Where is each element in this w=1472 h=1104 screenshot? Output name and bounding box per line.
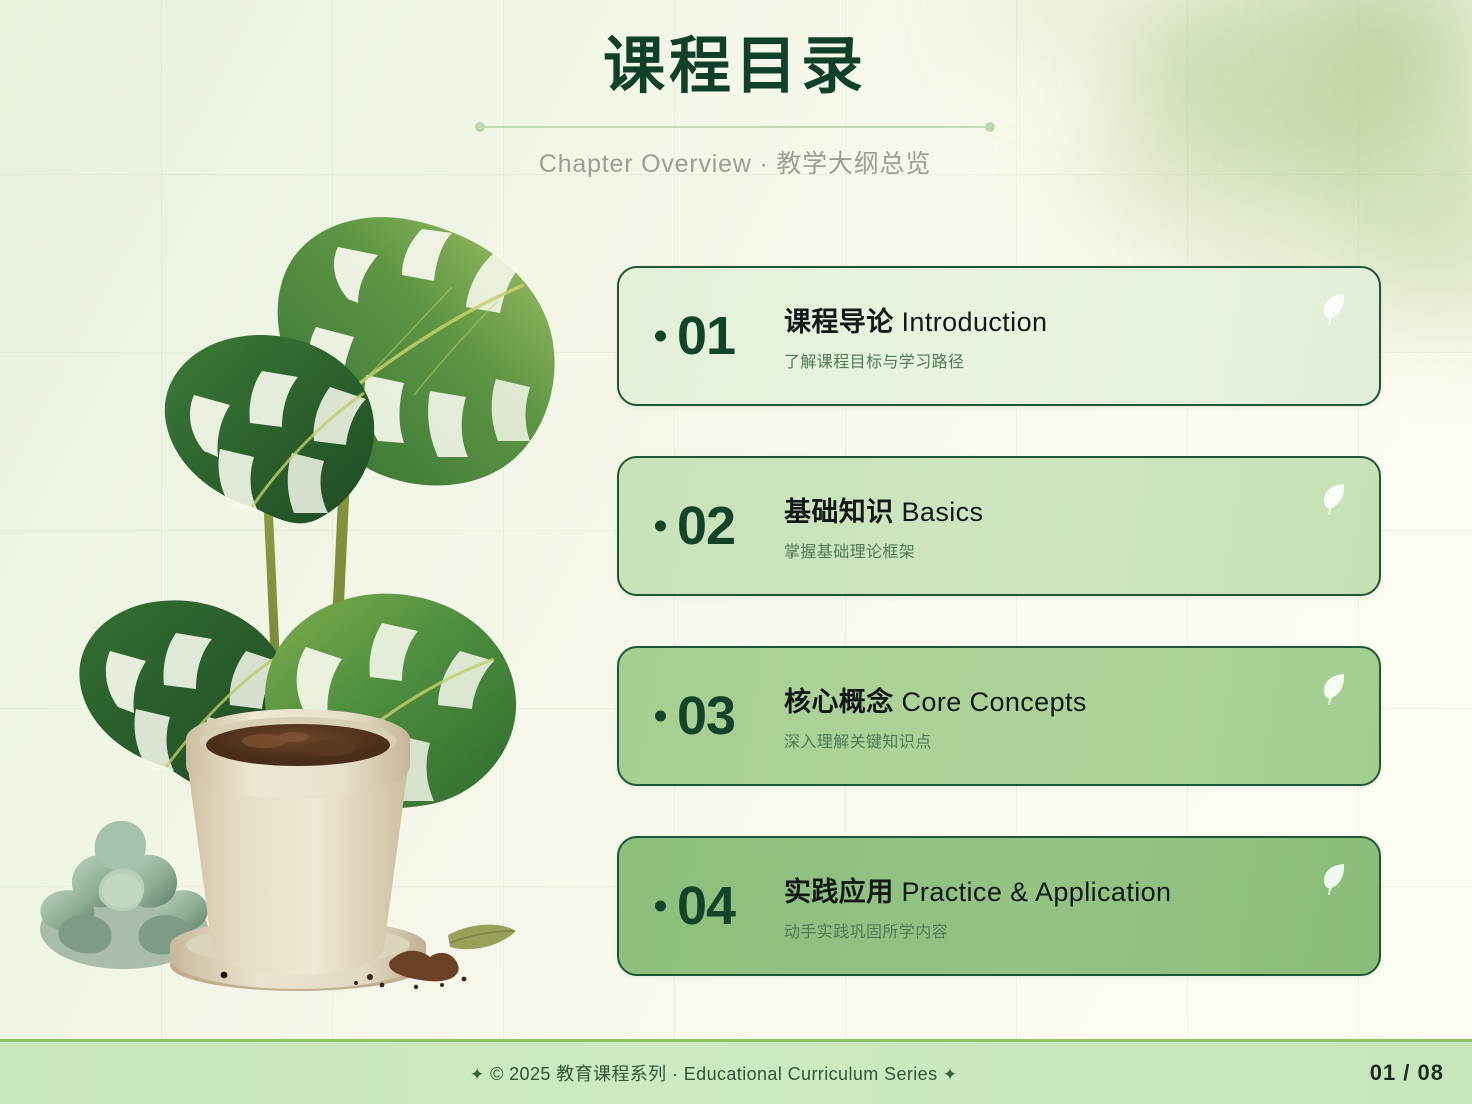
divider-dot-right	[985, 122, 995, 132]
chapter-heading-en: Practice & Application	[902, 877, 1172, 907]
chapter-number: 02	[677, 499, 735, 553]
chapter-heading-cn: 实践应用	[784, 877, 894, 907]
slide-header: 课程目录 Chapter Overview · 教学大纲总览	[470, 34, 1000, 180]
bokeh-blob	[1080, 90, 1290, 250]
sparkle-left-icon: ✦	[470, 1065, 485, 1084]
chapter-description: 掌握基础理论框架	[784, 538, 983, 562]
chapter-text: 实践应用 Practice & Application 动手实践巩固所学内容	[784, 870, 1171, 942]
bokeh-blob	[1330, 0, 1472, 90]
chapter-text: 核心概念 Core Concepts 深入理解关键知识点	[784, 680, 1087, 752]
bullet-dot	[655, 901, 666, 912]
chapter-heading-cn: 基础知识	[784, 497, 894, 527]
chapter-text: 基础知识 Basics 掌握基础理论框架	[784, 490, 983, 562]
footer-copyright: ✦ © 2025 教育课程系列 · Educational Curriculum…	[470, 1060, 958, 1086]
chapter-number: 01	[677, 309, 735, 363]
chapter-list: 01 课程导论 Introduction 了解课程目标与学习路径 02 基础知识	[617, 266, 1381, 976]
page-title: 课程目录	[470, 34, 1000, 100]
chapter-heading-en: Core Concepts	[902, 687, 1087, 717]
chapter-card-02[interactable]: 02 基础知识 Basics 掌握基础理论框架	[617, 456, 1381, 596]
sparkle-right-icon: ✦	[943, 1065, 958, 1084]
flower-pot	[186, 709, 410, 975]
leaf-icon	[1321, 862, 1347, 896]
chapter-number: 03	[677, 689, 735, 743]
chapter-heading-en: Introduction	[902, 307, 1048, 337]
chapter-description: 动手实践巩固所学内容	[784, 918, 1171, 942]
chapter-text: 课程导论 Introduction 了解课程目标与学习路径	[784, 300, 1047, 372]
slide-canvas: 课程目录 Chapter Overview · 教学大纲总览 01 课程导论 I…	[0, 0, 1472, 1104]
leaf-icon	[1321, 292, 1347, 326]
chapter-card-04[interactable]: 04 实践应用 Practice & Application 动手实践巩固所学内…	[617, 836, 1381, 976]
chapter-heading: 基础知识 Basics	[784, 490, 983, 529]
page-number: 01 / 08	[1370, 1060, 1444, 1086]
chapter-description: 深入理解关键知识点	[784, 728, 1087, 752]
leaf-icon	[1321, 672, 1347, 706]
potted-plant-illustration	[18, 205, 578, 1005]
page-subtitle: Chapter Overview · 教学大纲总览	[470, 144, 1000, 180]
bullet-dot	[655, 521, 666, 532]
bokeh-blob	[1290, 60, 1472, 250]
title-divider	[475, 122, 995, 132]
chapter-heading-en: Basics	[902, 497, 984, 527]
slide-footer: ✦ © 2025 教育课程系列 · Educational Curriculum…	[0, 1039, 1472, 1104]
copyright-text: © 2025 教育课程系列 · Educational Curriculum S…	[490, 1064, 937, 1084]
leaf-icon	[1321, 482, 1347, 516]
chapter-number: 04	[677, 879, 735, 933]
chapter-description: 了解课程目标与学习路径	[784, 348, 1047, 372]
chapter-heading: 实践应用 Practice & Application	[784, 870, 1171, 909]
divider-line	[481, 126, 989, 128]
bokeh-blob	[1130, 0, 1430, 170]
chapter-heading: 核心概念 Core Concepts	[784, 680, 1087, 719]
chapter-heading-cn: 核心概念	[784, 687, 894, 717]
chapter-card-03[interactable]: 03 核心概念 Core Concepts 深入理解关键知识点	[617, 646, 1381, 786]
bullet-dot	[655, 331, 666, 342]
chapter-heading: 课程导论 Introduction	[784, 300, 1047, 339]
bokeh-blob	[980, 0, 1150, 70]
bullet-dot	[655, 711, 666, 722]
bokeh-blob	[1390, 210, 1472, 340]
chapter-heading-cn: 课程导论	[784, 307, 894, 337]
chapter-card-01[interactable]: 01 课程导论 Introduction 了解课程目标与学习路径	[617, 266, 1381, 406]
